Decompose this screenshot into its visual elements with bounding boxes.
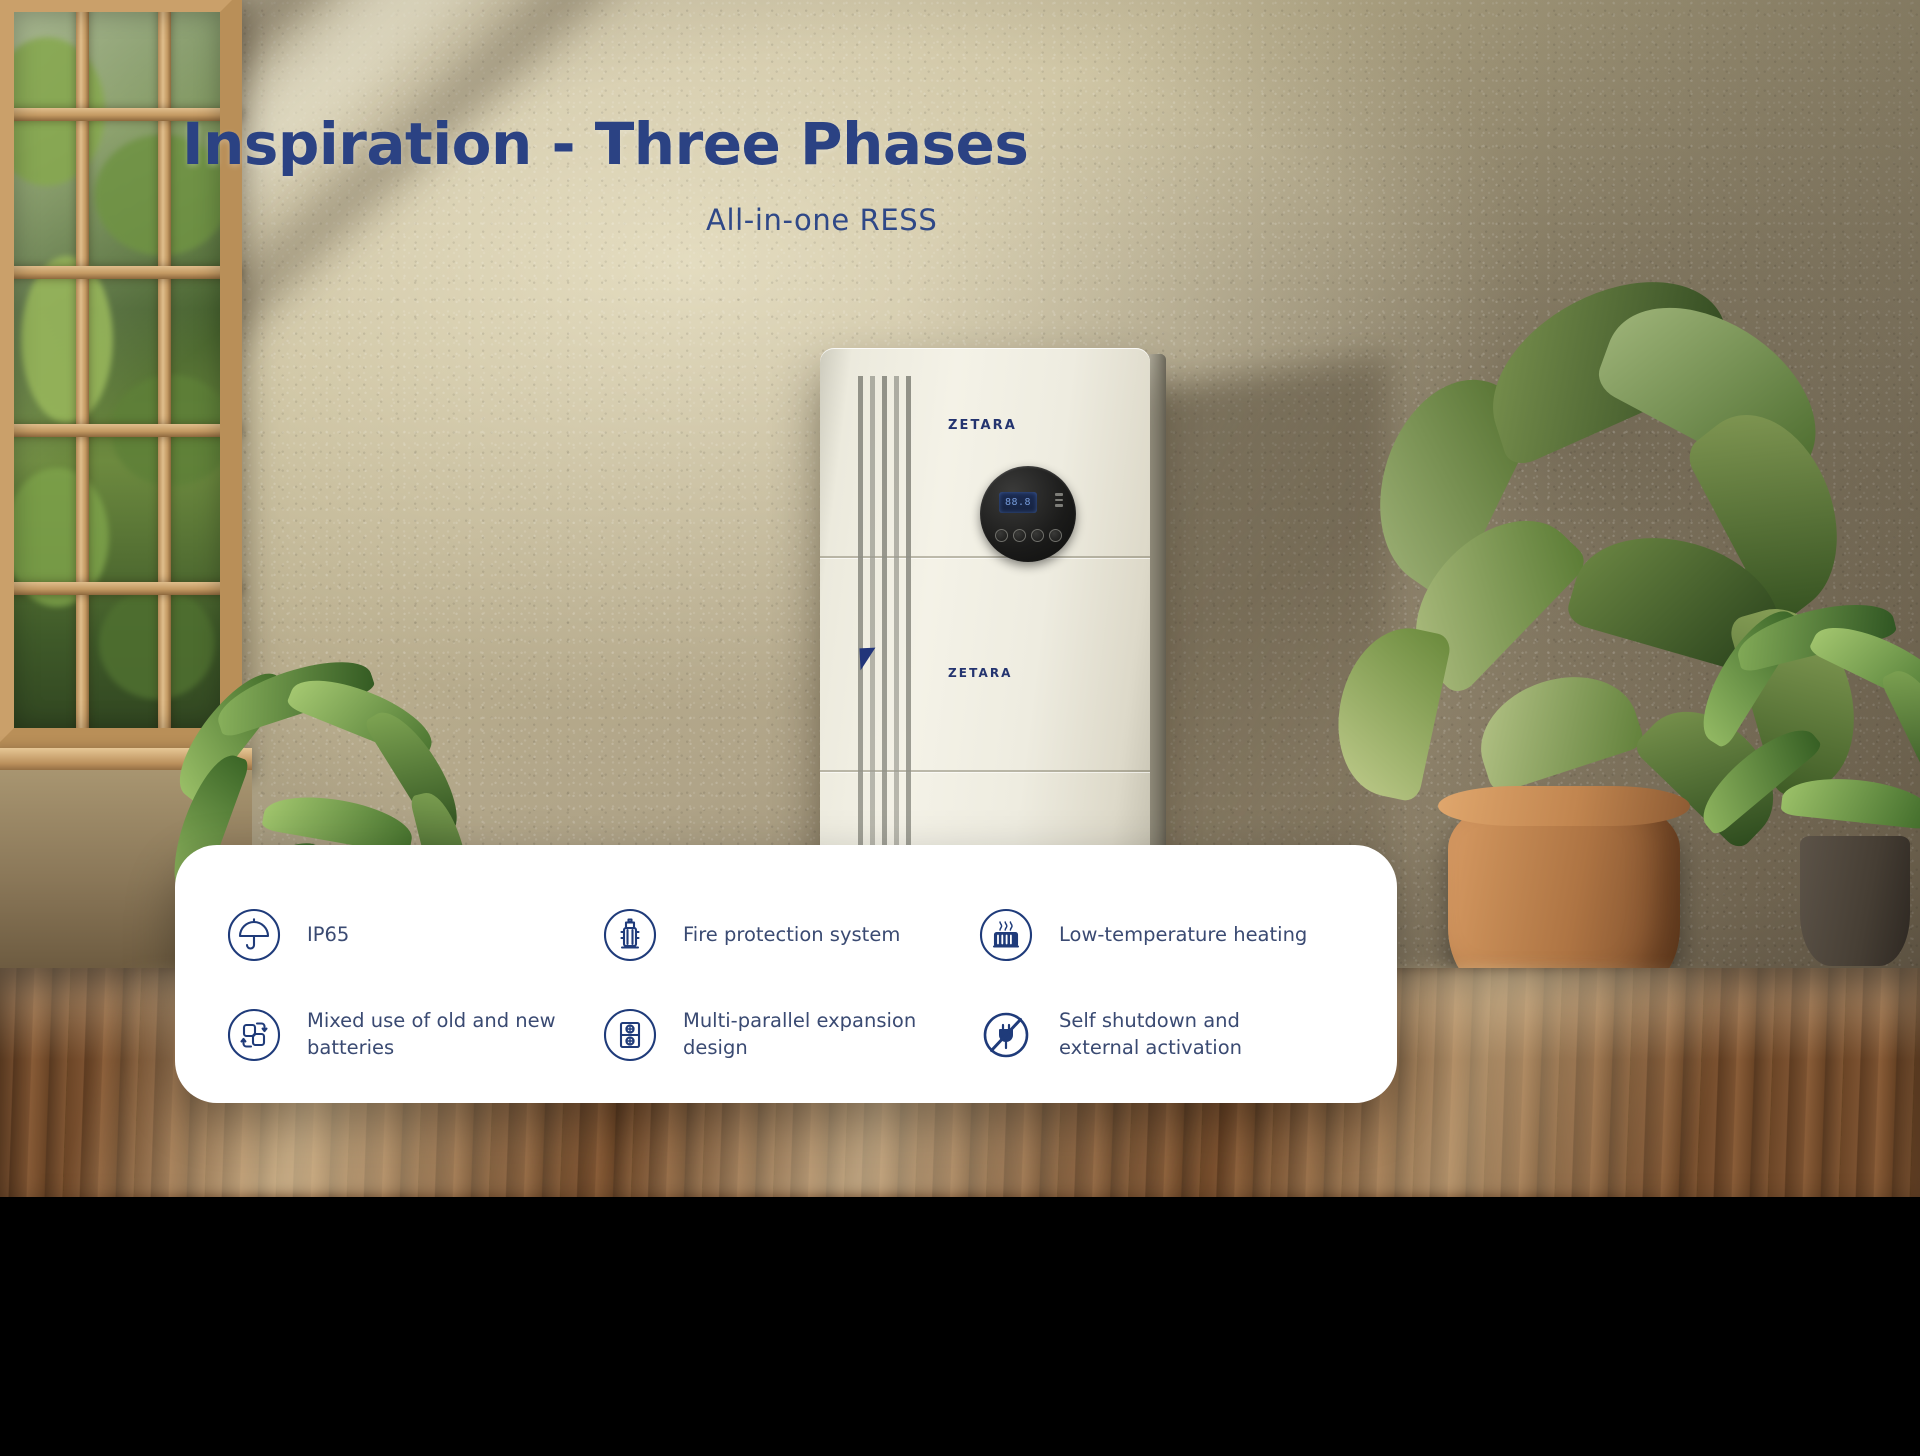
feature-card: IP65 Fire protection system [175,845,1397,1103]
brand-logo-middle: ZETARA [948,666,1013,680]
feature-label: Low-temperature heating [1059,922,1307,949]
dark-pot [1800,836,1910,966]
blue-accent-triangle [859,648,876,671]
feature-label: Self shutdown and external activation [1059,1008,1319,1062]
feature-label: Multi-parallel expansion design [683,1008,943,1062]
fire-hydrant-icon [603,908,657,962]
set-button[interactable] [1031,529,1044,542]
feature-item-self-shutdown[interactable]: Self shutdown and external activation [979,985,1345,1085]
page-title: Inspiration - Three Phases [182,110,1028,178]
feature-item-fire-protection[interactable]: Fire protection system [603,885,969,985]
panel-buttons[interactable] [995,529,1062,542]
page-subtitle: All-in-one RESS [706,203,937,237]
feature-item-multi-parallel[interactable]: Multi-parallel expansion design [603,985,969,1085]
feature-item-ip65[interactable]: IP65 [227,885,593,985]
battery-swap-icon [227,1008,281,1062]
feature-grid: IP65 Fire protection system [227,885,1345,1085]
no-plug-icon [979,1008,1033,1062]
umbrella-icon [227,908,281,962]
bottom-black-bar [0,1197,1920,1456]
lcd-display: 88.8 [999,492,1037,513]
stacked-modules-icon [603,1008,657,1062]
status-leds [1055,493,1063,507]
feature-label: IP65 [307,922,349,949]
brand-logo-top: ZETARA [948,418,1017,433]
heater-icon [979,908,1033,962]
enter-button[interactable] [1049,529,1062,542]
down-button[interactable] [1013,529,1026,542]
terracotta-pot-large [1448,798,1680,994]
lcd-value: 88.8 [999,492,1037,513]
up-button[interactable] [995,529,1008,542]
feature-label: Fire protection system [683,922,900,949]
control-panel[interactable]: 88.8 [980,466,1076,562]
feature-label: Mixed use of old and new batteries [307,1008,567,1062]
feature-item-mixed-batteries[interactable]: Mixed use of old and new batteries [227,985,593,1085]
feature-item-low-temp-heating[interactable]: Low-temperature heating [979,885,1345,985]
poster-canvas: ZETARA ZETARA ZETARA 88.8 [0,0,1920,1456]
